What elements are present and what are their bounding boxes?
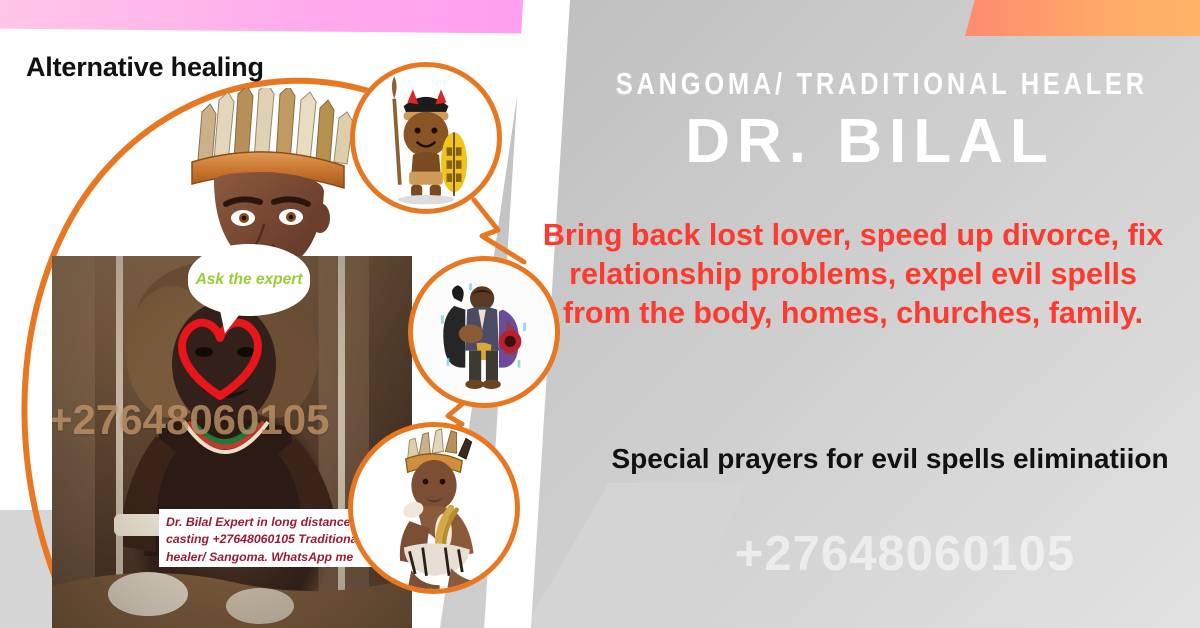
poster-canvas: Alternative healing [0,0,1200,628]
page-title: Alternative healing [26,52,264,83]
top-orange-bar [965,0,1200,36]
photo-phone-watermark: +27648060105 [52,396,412,444]
speech-bubble-text: Ask the expert [196,270,303,289]
doctor-name-title: DR. BILAL [560,106,1180,177]
services-red-text: Bring back lost lover, speed up divorce,… [538,216,1168,333]
speech-bubble: Ask the expert [188,244,310,316]
kicker-text: SANGOMA/ TRADITIONAL HEALER [616,66,1124,102]
top-pink-bar [0,0,600,34]
phone-watermark: +27648060105 [620,526,1190,582]
crouching-healer-illustration [353,427,515,589]
circle-bubble-crouching-healer [348,422,520,594]
zulu-warrior-illustration [355,67,497,209]
services-black-text: Special prayers for evil spells eliminat… [600,440,1180,477]
cloaked-healer-illustration [413,261,555,403]
circle-bubble-warrior [350,62,502,214]
